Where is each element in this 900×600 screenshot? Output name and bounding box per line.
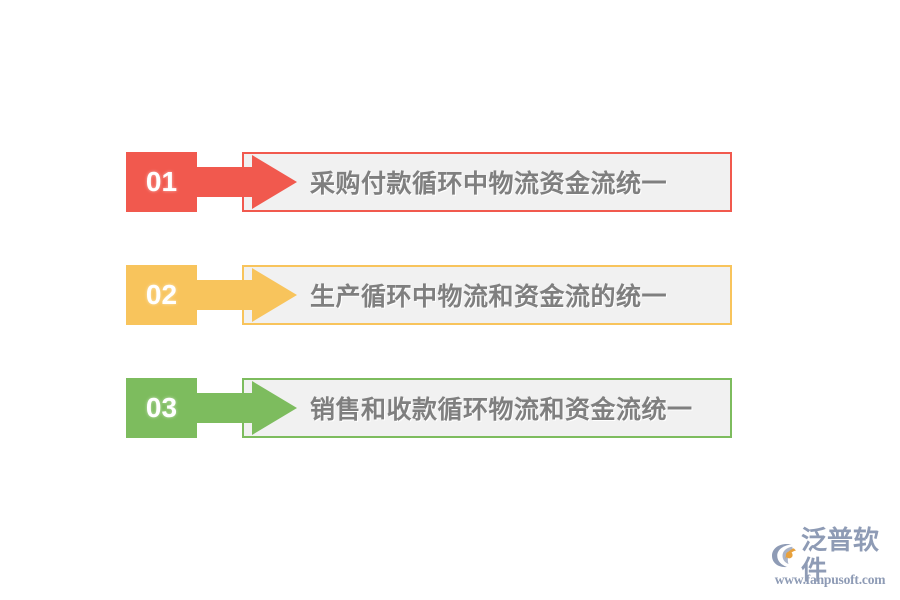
item-number-label: 02 [146,281,177,309]
list-item: 02 生产循环中物流和资金流的统一 [126,265,732,325]
item-text-label: 采购付款循环中物流资金流统一 [310,154,720,210]
logo-url-text: www.fanpusoft.com [769,572,891,588]
item-text-panel: 生产循环中物流和资金流的统一 [242,265,732,325]
watermark-logo: 泛普软件 www.fanpusoft.com [769,538,891,590]
item-text-label: 生产循环中物流和资金流的统一 [310,267,720,323]
item-text-label: 销售和收款循环物流和资金流统一 [310,380,720,436]
fanpu-logo-icon [769,540,799,570]
item-text-panel: 销售和收款循环物流和资金流统一 [242,378,732,438]
list-item: 01 采购付款循环中物流资金流统一 [126,152,732,212]
arrow-right-icon [181,265,297,325]
arrow-right-icon [181,152,297,212]
item-number-label: 01 [146,168,177,196]
item-number-label: 03 [146,394,177,422]
list-item: 03 销售和收款循环物流和资金流统一 [126,378,732,438]
logo-row: 泛普软件 [769,538,891,572]
arrow-right-icon [181,378,297,438]
slide-canvas: 01 采购付款循环中物流资金流统一 02 生产循环中物流和资金流的统一 03 销… [0,0,900,600]
item-text-panel: 采购付款循环中物流资金流统一 [242,152,732,212]
